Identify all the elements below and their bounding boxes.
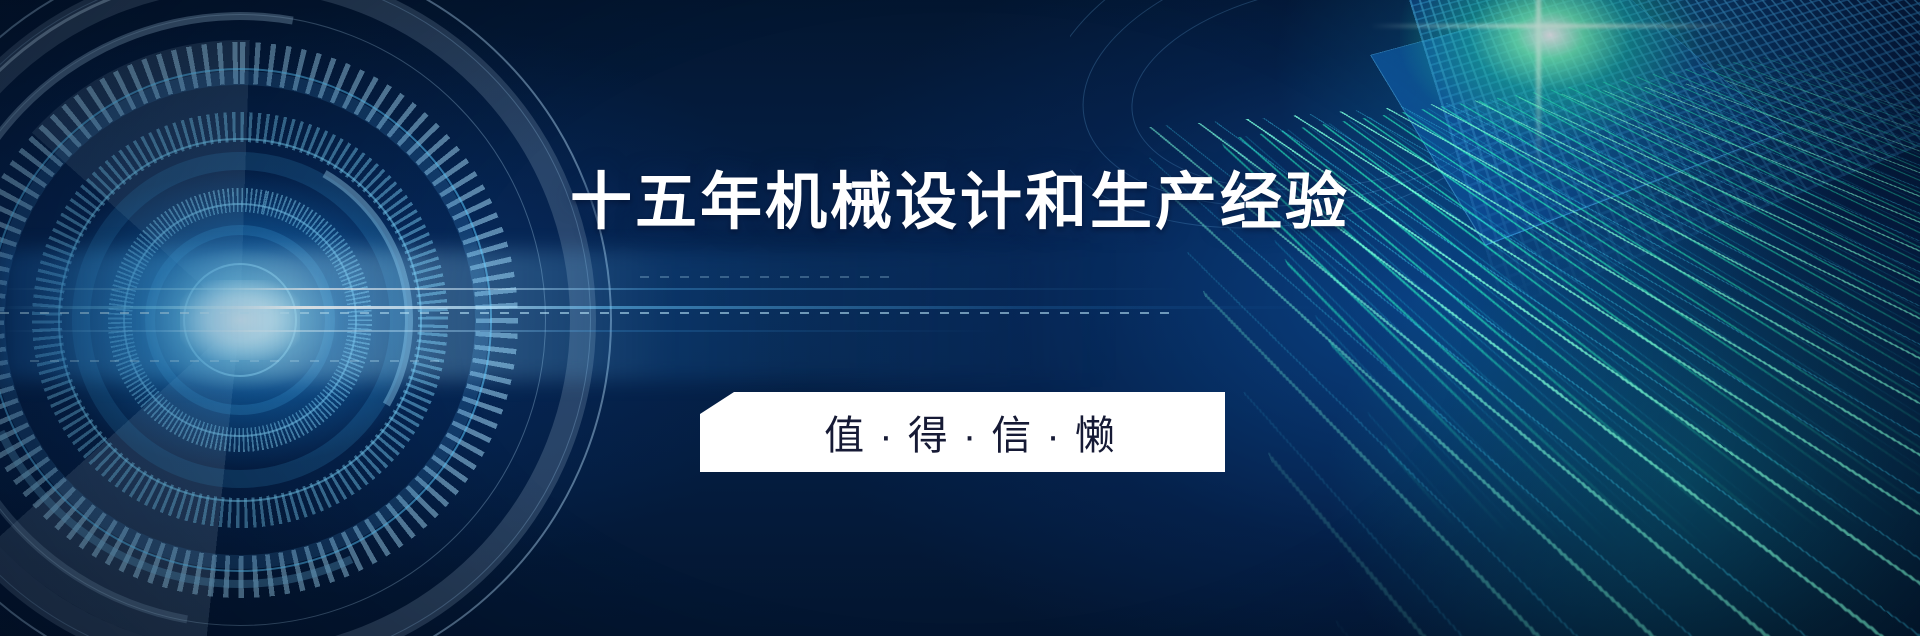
subtitle-text: 值 · 得 · 信 · 懒 [824,403,1117,461]
tech-circle-hud-graphic [0,0,620,636]
hud-glow-core [180,280,300,360]
green-star-flare-icon [1400,0,1700,140]
beam-dashed-line-upper [640,276,900,278]
circuit-board-graphic [1070,0,1920,636]
hero-banner: 十五年机械设计和生产经验 值 · 得 · 信 · 懒 [0,0,1920,636]
page-title: 十五年机械设计和生产经验 [0,172,1920,234]
flare-horizontal-ray [1370,24,1750,28]
subtitle-plate: 值 · 得 · 信 · 懒 [700,392,1225,472]
